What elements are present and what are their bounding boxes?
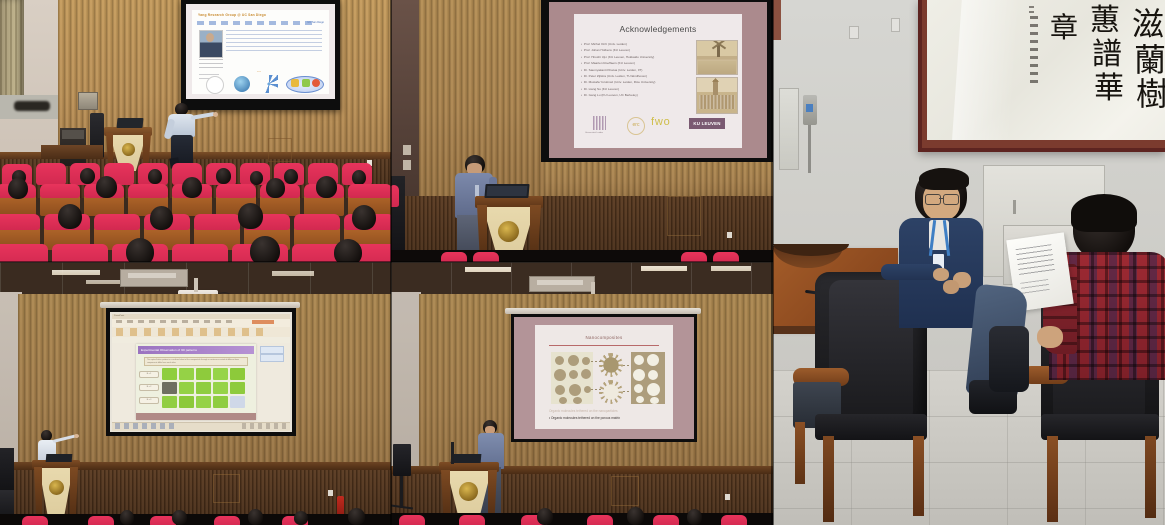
- panel-lecture-hall-speaker-at-podium-acknowledgements: Acknowledgements • Prof. Michel Orrit (U…: [391, 0, 773, 262]
- photo-collage: Yang Research Group @ UC San Diego UC Sa…: [0, 0, 1165, 525]
- audience-seating: [0, 160, 391, 262]
- glasses-icon: [925, 194, 941, 205]
- slide-bullet-faded: Organic molecules tethered on the nanopa…: [549, 409, 618, 413]
- calligraphy-char: 章: [1050, 14, 1078, 42]
- bullet-5: Dr. Peter Zijlstra (Univ. Leiden, TU Ein…: [584, 74, 647, 78]
- slide-bullet-list: • Prof. Michel Orrit (Univ. Leiden) • Pr…: [581, 41, 687, 99]
- calligraphy-paper: 蒼 桑 砥 礪 八 十 年 滋 蘭 樹 蕙 譜 華 章: [927, 0, 1165, 140]
- bullet-1: Prof. Johan Hofkens (KU Leuven): [584, 48, 630, 52]
- calligraphy-char: 樹: [1136, 78, 1165, 110]
- panel-divider-horizontal: [0, 261, 773, 263]
- panel-lecture-hall-speaker-pointing-at-screen: Yang Research Group @ UC San Diego UC Sa…: [0, 0, 391, 262]
- speaker-figure: [163, 103, 215, 168]
- photo-leuven-library: [696, 77, 738, 114]
- wall-switch: [849, 26, 859, 39]
- projection-screen: Nanocomposites: [511, 314, 697, 442]
- figure-porous-matrix: [631, 352, 665, 404]
- logo-erc: erc: [627, 117, 645, 135]
- bullet-8: Dr. Gang Lu (KU Leuven, UC Berkeley): [584, 93, 638, 97]
- slide-title-3d-patterns: Experimental Observation of 3D patterns: [138, 346, 254, 354]
- panel-meeting-room-discussion: 蒼 桑 砥 礪 八 十 年 滋 蘭 樹 蕙 譜 華 章: [773, 0, 1165, 525]
- panel-lecture-hall-wide-view-nanocomposites-slide: Nanocomposites: [391, 262, 773, 525]
- row-label-2: N = 3: [139, 397, 159, 404]
- slide-title-nanocomposites: Nanocomposites: [535, 335, 673, 340]
- slide-title-acknowledgements: Acknowledgements: [574, 24, 742, 34]
- logo-leiden-label: Universiteit Leiden: [585, 132, 603, 134]
- bullet-3: Prof. Maarten Roeffaers (KU Leuven): [584, 61, 635, 65]
- wall-switch: [891, 18, 900, 32]
- laptop: [451, 454, 482, 463]
- bullet-6: Dr. Mustafa Yorulmaz (Univ. Leiden, Rice…: [584, 80, 656, 84]
- row-label-1: N = 2: [139, 384, 159, 391]
- calligraphy-char: 蕙: [1090, 6, 1120, 36]
- logo-ku-leuven: KU LEUVEN: [689, 118, 725, 129]
- figure-tethered-particle-bottom: [599, 380, 623, 404]
- calligraphy-inscription: [1030, 16, 1038, 88]
- glasses-icon: [943, 194, 959, 205]
- calligraphy-char: 譜: [1092, 40, 1122, 70]
- bullet-0: Prof. Michel Orrit (Univ. Leiden): [584, 42, 627, 46]
- projection-screen: Acknowledgements • Prof. Michel Orrit (U…: [541, 0, 773, 162]
- logo-leiden-icon: [593, 116, 606, 130]
- bullet-7: Dr. Liang Su (KU Leuven): [584, 87, 619, 91]
- bullet-2: Prof. Hiroshi Uji-i (KU Leuven, Hokkaido…: [584, 55, 655, 59]
- projection-screen: PowerPoint Experimental Observation of 3…: [106, 308, 296, 436]
- projection-screen: Yang Research Group @ UC San Diego UC Sa…: [181, 0, 340, 110]
- calligraphy-char: 蘭: [1134, 44, 1165, 76]
- panel-lecture-hall-wide-view-3d-patterns-slide: PowerPoint Experimental Observation of 3…: [0, 262, 391, 525]
- photo-windmill: [696, 40, 738, 75]
- slide-title-top-left: Yang Research Group @ UC San Diego: [198, 13, 266, 17]
- slide-bullet-active: • Organic molecules tethered on the poro…: [549, 416, 620, 420]
- logo-row: Universiteit Leiden erc fwo KU LEUVEN: [579, 115, 739, 141]
- logo-fwo: fwo: [651, 116, 671, 128]
- figure-nanoparticle-array: [551, 352, 593, 404]
- calligraphy-char: 滋: [1132, 8, 1164, 40]
- row-label-0: N = 1: [139, 371, 159, 378]
- slide-body-text: The optical lattice pattern in a confine…: [144, 357, 248, 366]
- calligraphy-char: 華: [1094, 74, 1124, 104]
- calligraphy-scroll-frame: 蒼 桑 砥 礪 八 十 年 滋 蘭 樹 蕙 譜 華 章: [918, 0, 1165, 152]
- bullet-4: Dr. Saumyakanti Khatua (Univ. Leiden, II…: [584, 68, 643, 72]
- micrograph-grid: [162, 368, 250, 412]
- figure-tethered-particle-top: [599, 353, 623, 377]
